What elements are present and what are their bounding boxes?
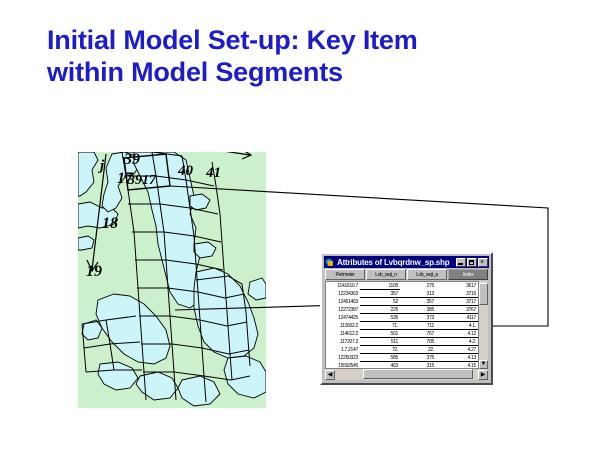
table-cell: 357	[360, 291, 400, 298]
horizontal-scrollbar-track[interactable]	[335, 369, 478, 380]
table-cell: 225	[360, 307, 400, 314]
table-cell: 585	[360, 355, 400, 362]
window-titlebar[interactable]: Attributes of Lvbqrdnw_sp.shp ×	[324, 256, 489, 268]
map-label-j: j	[98, 158, 105, 174]
table-row[interactable]: 1.7.214772.22.4.27	[326, 346, 479, 354]
table-cell: 71.	[360, 323, 400, 330]
table-row[interactable]: 122723872253853767	[326, 306, 479, 314]
table-cell: 711	[400, 323, 436, 330]
table-cell: 3716	[436, 291, 478, 298]
table-cell: 3717	[436, 299, 478, 306]
table-cell: 767	[400, 331, 436, 338]
table-cell: 4.2.	[436, 339, 478, 346]
close-icon[interactable]: ×	[478, 258, 488, 267]
horizontal-scrollbar-thumb[interactable]	[363, 369, 473, 379]
model-segment-map: j 17 18 19 39 40 41 3917	[78, 152, 266, 408]
table-cell: 357	[400, 299, 436, 306]
table-row[interactable]: 1141610.711052753617	[326, 282, 479, 290]
scroll-right-arrow-icon[interactable]: ▶	[478, 370, 488, 380]
table-cell: 4.1.	[436, 323, 478, 330]
table-cell: 72.	[360, 347, 400, 354]
scroll-down-arrow-icon[interactable]: ▼	[479, 360, 488, 369]
table-cell: 385	[400, 307, 436, 314]
table-row[interactable]: 122503235853754.13	[326, 354, 479, 362]
table-cell: 705	[400, 339, 436, 346]
horizontal-scrollbar[interactable]: ◀ ▶	[325, 369, 488, 380]
table-cell: 373	[400, 315, 436, 322]
map-svg: j 17 18 19 39 40 41 3917	[78, 152, 266, 408]
table-row[interactable]: 114612.25017674.12	[326, 330, 479, 338]
table-cell: 313	[400, 291, 436, 298]
window-controls[interactable]: ×	[456, 258, 488, 267]
column-header-lvb-wqt-a[interactable]: Lvb_wqt_a	[407, 269, 447, 280]
table-cell: 3767	[436, 307, 478, 314]
table-cell: 535	[360, 315, 400, 322]
map-label-col-41: 41	[205, 165, 221, 181]
scroll-left-arrow-icon[interactable]: ◀	[325, 370, 335, 380]
table-cell: 4.12	[436, 331, 478, 338]
table-cell: 114612.2	[326, 331, 360, 337]
table-cell: 4.13	[436, 355, 478, 362]
minimize-button[interactable]	[456, 258, 466, 267]
table-cell: 12474425	[326, 315, 360, 321]
table-row[interactable]: 124744255353734117	[326, 314, 479, 322]
column-header-perimeter[interactable]: Perimeter	[325, 269, 365, 280]
table-cell: 112602.2	[326, 323, 360, 329]
table-cell: 4.27	[436, 347, 478, 354]
table-cell: 12234363	[326, 291, 360, 297]
map-label-col-40: 40	[177, 163, 194, 179]
map-label-col-39: 39	[123, 152, 140, 168]
table-cell: 1.7.2147	[326, 347, 360, 353]
table-cell: 511	[360, 339, 400, 346]
table-cell: 4117	[436, 315, 478, 322]
globe-leaf-icon	[325, 258, 334, 267]
table-cell: 1141610.7	[326, 283, 360, 289]
vertical-scrollbar[interactable]: ▼	[478, 281, 488, 369]
table-cell: 12272387	[326, 307, 360, 313]
attribute-table-window[interactable]: Attributes of Lvbqrdnw_sp.shp × Perimete…	[320, 252, 493, 385]
map-label-row-19: 19	[86, 263, 102, 280]
table-cell: 117207.2	[326, 339, 360, 345]
table-cell: 52	[360, 299, 400, 306]
table-row[interactable]: 12451463523573717	[326, 298, 479, 306]
table-column-headers[interactable]: Perimeter Lvb_wqt_n Lvb_wqt_a Index	[325, 269, 488, 280]
map-label-key-cell: 3917	[127, 173, 157, 188]
column-header-index[interactable]: Index	[448, 269, 488, 280]
column-header-lvb-wqt-n[interactable]: Lvb_wqt_n	[366, 269, 406, 280]
page-title: Initial Model Set-up: Key Item within Mo…	[47, 24, 567, 88]
table-cell: 275	[400, 283, 436, 289]
table-row[interactable]: 112602.271.7114.1.	[326, 322, 479, 330]
window-title: Attributes of Lvbqrdnw_sp.shp	[337, 258, 456, 267]
table-row[interactable]: 122343633573133716	[326, 290, 479, 298]
close-glyph: ×	[480, 259, 484, 266]
table-cell: 12250323	[326, 355, 360, 361]
table-body[interactable]: 1141610.71105275361712234363357313371612…	[325, 281, 480, 369]
vertical-scrollbar-thumb[interactable]	[479, 283, 488, 305]
table-cell: 501	[360, 331, 400, 338]
table-cell: 12451463	[326, 299, 360, 305]
table-cell: 1105	[360, 283, 400, 290]
table-cell: 22.	[400, 347, 436, 354]
table-row[interactable]: 155925454633154.15	[326, 362, 479, 369]
maximize-button[interactable]	[467, 258, 477, 267]
map-label-row-18: 18	[102, 215, 118, 232]
table-cell: 3617	[436, 283, 478, 289]
table-row[interactable]: 117207.25117054.2.	[326, 338, 479, 346]
table-cell: 375	[400, 355, 436, 362]
